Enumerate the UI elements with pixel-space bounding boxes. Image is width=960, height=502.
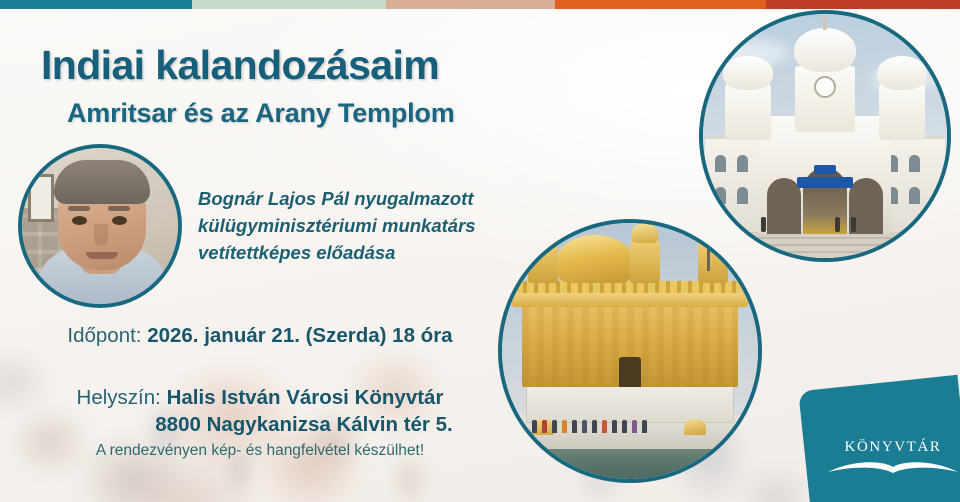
gateway-tower-right xyxy=(879,84,925,140)
gateway-tower-left xyxy=(725,84,771,140)
portrait-illustration xyxy=(22,148,178,304)
gateway-window xyxy=(715,155,726,172)
gateway-clock-face xyxy=(814,76,836,98)
gateway-illustration xyxy=(703,14,947,258)
segment-green xyxy=(192,0,386,9)
gateway-signboard-small xyxy=(814,165,836,174)
gateway-main-facade xyxy=(759,116,891,234)
pilgrim xyxy=(632,420,637,433)
gateway-visitor xyxy=(851,217,856,232)
portrait-eyebrow-right xyxy=(108,206,130,211)
page-subtitle: Amritsar és az Arany Templom xyxy=(67,98,455,129)
event-venue-address: 8800 Nagykanizsa Kálvin tér 5. xyxy=(155,413,452,436)
golden-temple-doorway xyxy=(619,357,641,387)
gateway-dome-right xyxy=(877,56,927,90)
photo-golden-temple xyxy=(502,223,758,479)
event-details: Időpont: 2026. január 21. (Szerda) 18 ór… xyxy=(0,322,520,439)
portrait-eyebrow-left xyxy=(68,206,90,211)
event-address-line: 8800 Nagykanizsa Kálvin tér 5. xyxy=(0,411,520,439)
gateway-arch-left xyxy=(767,178,801,234)
speaker-description: Bognár Lajos Pál nyugalmazott külügymini… xyxy=(198,186,514,266)
golden-temple-main-dome xyxy=(558,235,632,283)
event-poster: Indiai kalandozásaim Amritsar és az Aran… xyxy=(0,0,960,502)
decorative-color-bar xyxy=(0,0,960,9)
golden-temple-pillar-dome-right xyxy=(684,419,706,435)
golden-temple-kiosk-right xyxy=(698,241,728,283)
pilgrim xyxy=(602,420,607,433)
golden-temple-kiosk-dome-center xyxy=(632,223,658,243)
segment-sand xyxy=(386,0,555,9)
gateway-visitor xyxy=(835,217,840,232)
pilgrim xyxy=(622,420,627,433)
portrait-eye-left xyxy=(72,216,87,225)
recording-notice: A rendezvényen kép- és hangfelvétel kész… xyxy=(0,442,520,460)
golden-temple-flag xyxy=(707,227,710,271)
photo-gateway xyxy=(703,14,947,258)
gateway-visitor xyxy=(761,217,766,232)
event-venue-line: Helyszín: Halis István Városi Könyvtár xyxy=(0,384,520,412)
event-date-label: Időpont: xyxy=(67,324,141,347)
gateway-window xyxy=(737,187,748,204)
golden-temple-illustration xyxy=(502,223,758,479)
event-venue-label: Helyszín: xyxy=(77,386,161,409)
gateway-spire xyxy=(823,14,827,30)
golden-temple-kiosk-dome-left xyxy=(530,223,556,243)
photo-portrait xyxy=(22,148,178,304)
pilgrim xyxy=(642,420,647,433)
event-venue-name: Halis István Városi Könyvtár xyxy=(167,386,444,409)
portrait-wall-picture-frame xyxy=(28,174,54,222)
portrait-hair xyxy=(54,160,150,204)
gateway-window xyxy=(909,155,920,172)
gateway-signboard xyxy=(797,177,853,188)
event-date-line: Időpont: 2026. január 21. (Szerda) 18 ór… xyxy=(0,322,520,350)
portrait-eye-right xyxy=(112,216,127,225)
page-title: Indiai kalandozásaim xyxy=(41,42,439,89)
event-date-value: 2026. január 21. (Szerda) 18 óra xyxy=(147,324,452,347)
pilgrim xyxy=(582,420,587,433)
pilgrim xyxy=(552,420,557,433)
segment-teal xyxy=(0,0,192,9)
library-wordmark: Könyvtár xyxy=(828,432,958,457)
gateway-dome-center xyxy=(794,28,856,72)
open-book-icon xyxy=(826,458,960,478)
portrait-mouth xyxy=(86,252,118,259)
pilgrim xyxy=(532,420,537,433)
golden-temple-kiosk-center xyxy=(630,241,660,283)
pilgrim xyxy=(572,420,577,433)
pilgrim xyxy=(592,420,597,433)
gateway-window xyxy=(909,187,920,204)
gateway-dome-left xyxy=(723,56,773,90)
library-logo-inner: Könyvtár xyxy=(812,374,960,502)
golden-temple-pilgrims xyxy=(532,418,682,433)
segment-brick xyxy=(766,0,960,9)
gateway-window xyxy=(715,187,726,204)
pilgrim xyxy=(562,420,567,433)
portrait-nose xyxy=(94,224,108,246)
golden-temple-kiosk-left xyxy=(528,241,558,283)
library-logo-panel: Könyvtár xyxy=(798,375,960,502)
segment-orange xyxy=(555,0,766,9)
pilgrim xyxy=(612,420,617,433)
gateway-window xyxy=(737,155,748,172)
pilgrim xyxy=(542,420,547,433)
golden-temple-cornice xyxy=(512,291,748,307)
